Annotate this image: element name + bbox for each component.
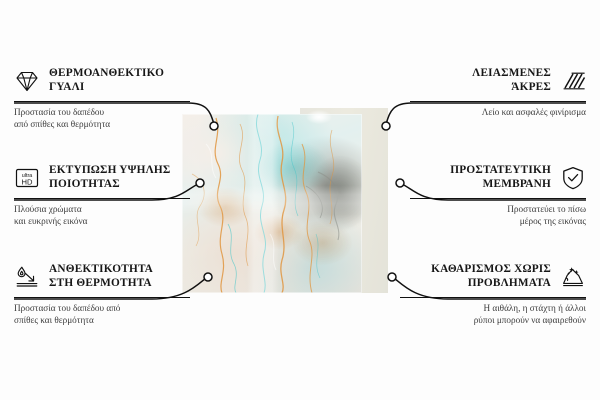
feature-description: Η αιθάλη, η στάχτη ή άλλοι ρύποι μπορούν…	[400, 303, 586, 326]
feature-description: Λείο και ασφαλές φινίρισμα	[410, 107, 586, 119]
feature-divider	[400, 297, 586, 298]
feature-protective-membrane: ΠΡΟΣΤΑΤΕΥΤΙΚΗ ΜΕΜΒΡΑΝΗ Προστατεύει το πί…	[410, 161, 586, 227]
feature-title: ΘΕΡΜΟΑΝΘΕΚΤΙΚΟ ΓΥΑΛΙ	[49, 67, 164, 94]
feature-description: Πλούσια χρώματα και ευκρινής εικόνα	[14, 204, 190, 227]
feature-title: ΑΝΘΕΚΤΙΚΟΤΗΤΑ ΣΤΗ ΘΕΡΜΟΤΗΤΑ	[49, 263, 153, 290]
ultra-hd-icon: ultra HD	[14, 165, 40, 191]
panel-front-artwork	[182, 114, 362, 293]
feature-divider	[14, 101, 190, 102]
feature-title: ΛΕΙΑΣΜΕΝΕΣ ΆΚΡΕΣ	[472, 67, 551, 94]
feature-high-quality-print: ultra HD ΕΚΤΥΠΩΣΗ ΥΨΗΛΗΣ ΠΟΙΟΤΗΤΑΣ Πλούσ…	[14, 161, 190, 227]
feature-title: ΕΚΤΥΠΩΣΗ ΥΨΗΛΗΣ ΠΟΙΟΤΗΤΑΣ	[49, 164, 170, 191]
feature-heat-resistant-glass: ΘΕΡΜΟΑΝΘΕΚΤΙΚΟ ΓΥΑΛΙ Προστασία του δαπέδ…	[14, 64, 190, 130]
abstract-marble-artwork	[182, 114, 362, 293]
feature-description: Προστατεύει το πίσω μέρος της εικόνας	[410, 204, 586, 227]
feature-description: Προστασία του δαπέδου από σπίθες και θερ…	[14, 303, 190, 326]
feature-easy-cleaning: ΚΑΘΑΡΙΣΜΟΣ ΧΩΡΙΣ ΠΡΟΒΛΗΜΑΤΑ Η αι	[400, 260, 586, 326]
ink-veins	[182, 114, 362, 293]
connector-dot-easy-cleaning	[388, 273, 396, 281]
flame-deflect-icon	[14, 264, 40, 290]
feature-title: ΠΡΟΣΤΑΤΕΥΤΙΚΗ ΜΕΜΒΡΑΝΗ	[450, 164, 551, 191]
feature-divider	[410, 198, 586, 199]
diagonal-lines-icon	[560, 68, 586, 94]
shield-check-icon	[560, 165, 586, 191]
feature-divider	[14, 198, 190, 199]
feature-polished-edges: ΛΕΙΑΣΜΕΝΕΣ ΆΚΡΕΣ Λείο και ασφαλές φινίρι…	[410, 64, 586, 119]
feature-divider	[410, 101, 586, 102]
feature-description: Προστασία του δαπέδου από σπίθες και θερ…	[14, 107, 190, 130]
svg-text:HD: HD	[22, 177, 33, 186]
diamond-icon	[14, 68, 40, 94]
connector-dot-protective-membrane	[396, 179, 404, 187]
feature-heat-durability: ΑΝΘΕΚΤΙΚΟΤΗΤΑ ΣΤΗ ΘΕΡΜΟΤΗΤΑ Προστασία το…	[14, 260, 190, 326]
feature-divider	[14, 297, 190, 298]
feature-title: ΚΑΘΑΡΙΣΜΟΣ ΧΩΡΙΣ ΠΡΟΒΛΗΜΑΤΑ	[431, 263, 551, 290]
product-image	[182, 108, 388, 293]
sparkle-wipe-icon	[560, 264, 586, 290]
infographic-canvas: ΘΕΡΜΟΑΝΘΕΚΤΙΚΟ ΓΥΑΛΙ Προστασία του δαπέδ…	[0, 0, 600, 400]
